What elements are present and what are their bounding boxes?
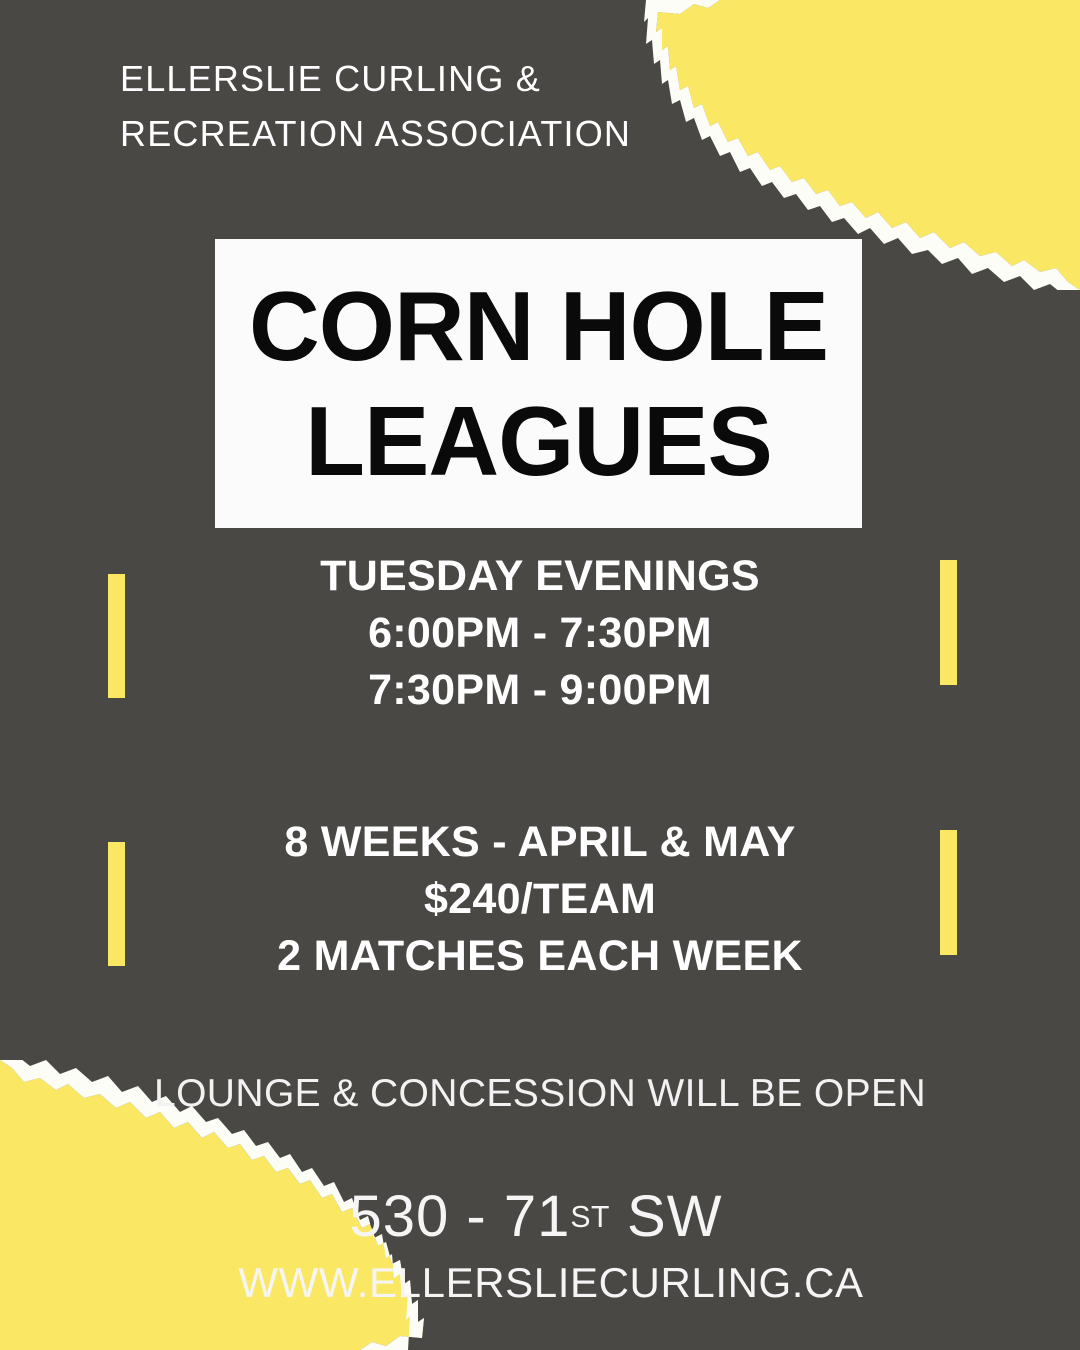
- league-duration: 8 WEEKS - APRIL & MAY: [0, 814, 1080, 871]
- event-title-block: CORN HOLE LEAGUES: [215, 239, 862, 528]
- schedule-time-slot-1: 6:00PM - 7:30PM: [0, 605, 1080, 662]
- event-title-line-1: CORN HOLE: [249, 269, 828, 384]
- street-address-ordinal-suffix: ST: [570, 1201, 610, 1234]
- footer-block: 530 - 71ST SW WWW.ELLERSLIECURLING.CA: [0, 1186, 1080, 1309]
- website-url: WWW.ELLERSLIECURLING.CA: [0, 1257, 1080, 1310]
- street-address: 530 - 71ST SW: [0, 1186, 1080, 1249]
- schedule-time-slot-2: 7:30PM - 9:00PM: [0, 662, 1080, 719]
- pricing-block: 8 WEEKS - APRIL & MAY $240/TEAM 2 MATCHE…: [0, 814, 1080, 986]
- schedule-day: TUESDAY EVENINGS: [0, 548, 1080, 605]
- street-address-quadrant: SW: [610, 1184, 723, 1249]
- poster-canvas: ELLERSLIE CURLING & RECREATION ASSOCIATI…: [0, 0, 1080, 1350]
- amenities-note: LOUNGE & CONCESSION WILL BE OPEN: [0, 1072, 1080, 1116]
- schedule-block: TUESDAY EVENINGS 6:00PM - 7:30PM 7:30PM …: [0, 548, 1080, 718]
- league-cost: $240/TEAM: [0, 871, 1080, 928]
- matches-per-week: 2 MATCHES EACH WEEK: [0, 928, 1080, 985]
- event-title-line-2: LEAGUES: [305, 384, 772, 499]
- organization-name: ELLERSLIE CURLING & RECREATION ASSOCIATI…: [120, 52, 740, 161]
- street-address-number: 530 - 71: [350, 1184, 571, 1249]
